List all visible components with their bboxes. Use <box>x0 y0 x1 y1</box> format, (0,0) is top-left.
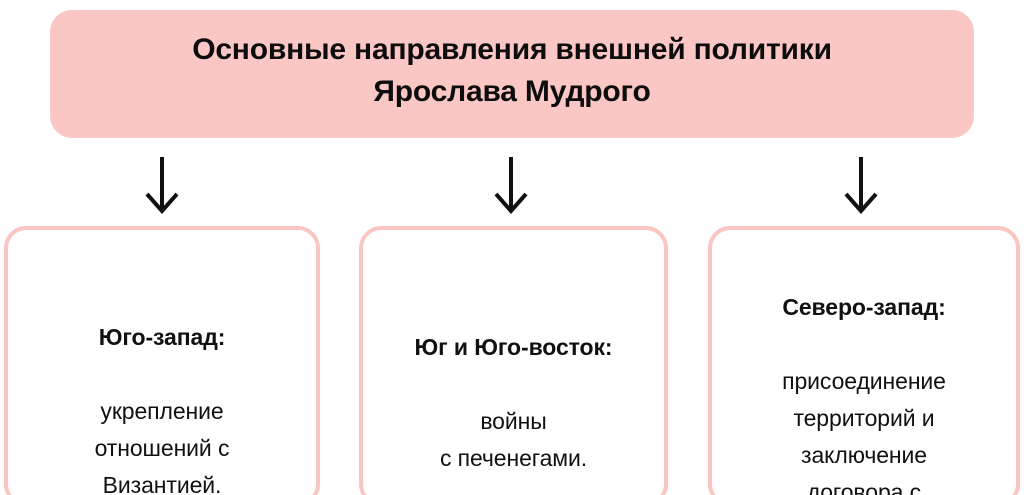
diagram-title: Основные направления внешней политики Яр… <box>192 29 832 113</box>
card-2-body: войны с печенегами. <box>415 403 613 477</box>
card-2-text: Юг и Юго-восток: войны с печенегами. <box>415 230 613 495</box>
diagram-canvas: Основные направления внешней политики Яр… <box>0 0 1024 495</box>
card-3-text: Северо-запад: присоединение территорий и… <box>782 230 946 495</box>
card-south-west: Юго-запад: укрепление отношений с Визант… <box>4 226 320 495</box>
card-3-heading: Северо-запад: <box>782 289 946 326</box>
arrow-to-card-2 <box>491 156 531 214</box>
card-south-and-south-east: Юг и Юго-восток: войны с печенегами. <box>359 226 668 495</box>
arrow-to-card-3 <box>841 156 881 214</box>
arrow-to-card-1 <box>142 156 182 214</box>
card-1-body: укрепление отношений с Византией. <box>95 393 230 495</box>
card-1-text: Юго-запад: укрепление отношений с Визант… <box>95 230 230 495</box>
title-banner: Основные направления внешней политики Яр… <box>50 10 974 138</box>
card-north-west: Северо-запад: присоединение территорий и… <box>708 226 1020 495</box>
card-2-heading: Юг и Юго-восток: <box>415 329 613 366</box>
card-3-body: присоединение территорий и заключение до… <box>782 363 946 495</box>
card-1-heading: Юго-запад: <box>95 319 230 356</box>
